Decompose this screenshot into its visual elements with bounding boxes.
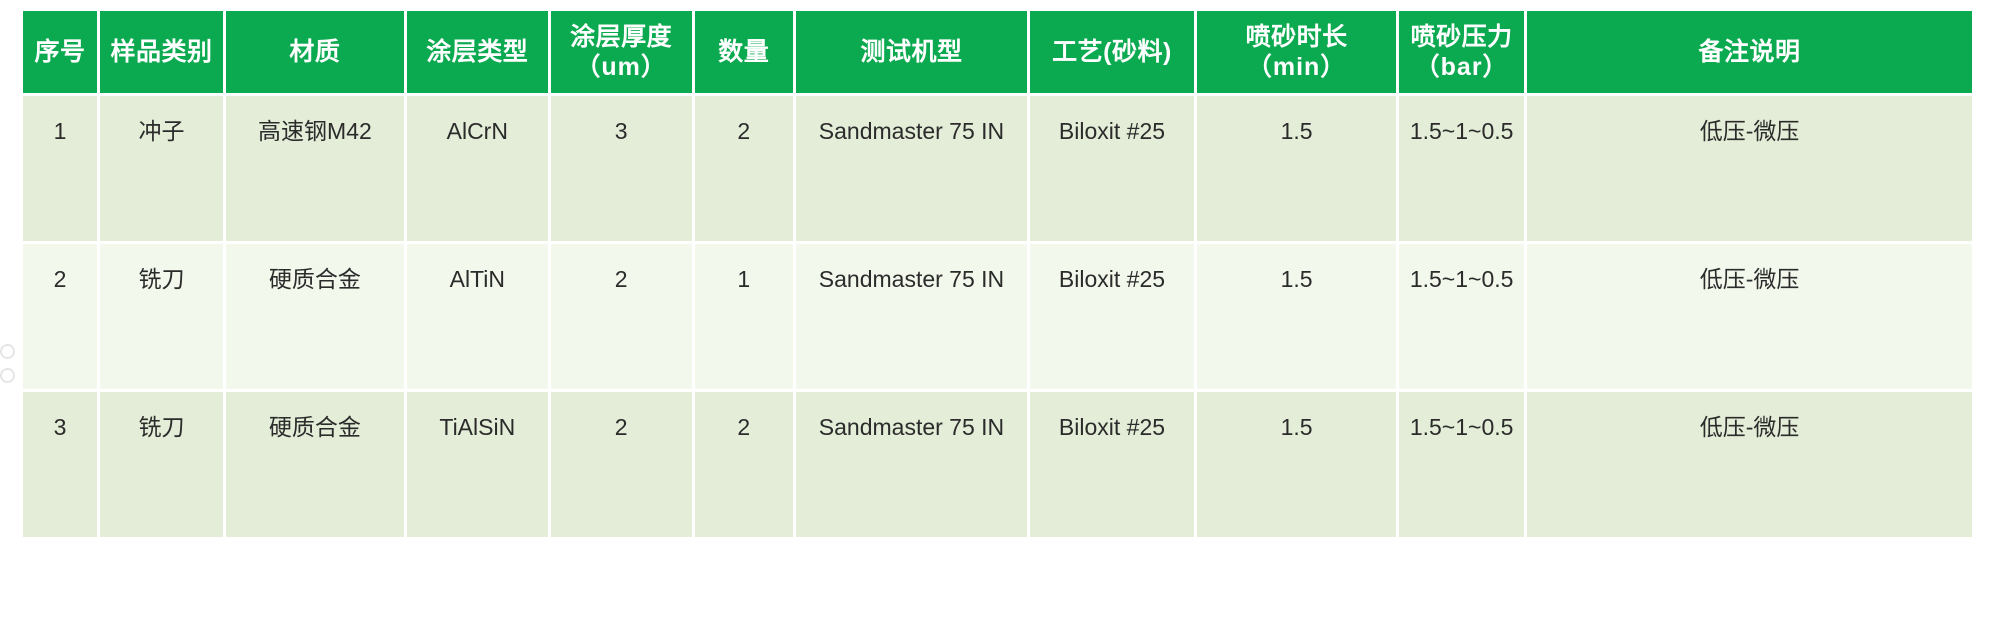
cell-remark[interactable]: 低压-微压 — [1527, 392, 1972, 537]
column-header-thickness-label: 涂层厚度 — [570, 23, 672, 51]
cell-category[interactable]: 冲子 — [100, 96, 223, 241]
cell-thickness[interactable]: 3 — [551, 96, 692, 241]
cell-category[interactable]: 铣刀 — [100, 244, 223, 389]
column-header-remark[interactable]: 备注说明 — [1527, 11, 1972, 93]
column-header-seq[interactable]: 序号 — [23, 11, 97, 93]
cell-coating[interactable]: AlTiN — [407, 244, 548, 389]
column-header-process[interactable]: 工艺(砂料) — [1030, 11, 1194, 93]
column-header-quantity[interactable]: 数量 — [695, 11, 793, 93]
cell-pressure[interactable]: 1.5~1~0.5 — [1399, 244, 1524, 389]
cell-seq[interactable]: 2 — [23, 244, 97, 389]
column-header-category-label: 样品类别 — [111, 38, 213, 66]
column-header-remark-label: 备注说明 — [1699, 38, 1801, 66]
cell-coating[interactable]: TiAlSiN — [407, 392, 548, 537]
column-header-pressure-label: 喷砂压力 — [1411, 23, 1513, 51]
cell-machine[interactable]: Sandmaster 75 IN — [796, 96, 1027, 241]
cropped-glyph-fragment — [0, 344, 15, 359]
column-header-pressure[interactable]: 喷砂压力 （bar） — [1399, 11, 1524, 93]
cell-quantity[interactable]: 1 — [695, 244, 793, 389]
cell-duration[interactable]: 1.5 — [1197, 96, 1396, 241]
column-header-pressure-unit: （bar） — [1401, 52, 1522, 83]
table-header: 序号 样品类别 材质 涂层类型 涂层厚度 （um） 数量 — [23, 11, 1972, 93]
column-header-quantity-label: 数量 — [718, 38, 769, 66]
cell-material[interactable]: 硬质合金 — [226, 392, 404, 537]
column-header-machine[interactable]: 测试机型 — [796, 11, 1027, 93]
cell-machine[interactable]: Sandmaster 75 IN — [796, 244, 1027, 389]
column-header-duration-label: 喷砂时长 — [1246, 23, 1348, 51]
table-row[interactable]: 1 冲子 高速钢M42 AlCrN 3 2 Sandmaster 75 IN B… — [23, 96, 1972, 241]
cell-material[interactable]: 硬质合金 — [226, 244, 404, 389]
cell-material[interactable]: 高速钢M42 — [226, 96, 404, 241]
cell-process[interactable]: Biloxit #25 — [1030, 96, 1194, 241]
column-header-material-label: 材质 — [289, 38, 340, 66]
cell-thickness[interactable]: 2 — [551, 392, 692, 537]
table-row[interactable]: 3 铣刀 硬质合金 TiAlSiN 2 2 Sandmaster 75 IN B… — [23, 392, 1972, 537]
cell-thickness[interactable]: 2 — [551, 244, 692, 389]
column-header-category[interactable]: 样品类别 — [100, 11, 223, 93]
cell-machine[interactable]: Sandmaster 75 IN — [796, 392, 1027, 537]
cell-pressure[interactable]: 1.5~1~0.5 — [1399, 96, 1524, 241]
cell-process[interactable]: Biloxit #25 — [1030, 244, 1194, 389]
column-header-machine-label: 测试机型 — [860, 38, 962, 66]
column-header-thickness-unit: （um） — [553, 52, 690, 83]
column-header-process-label: 工艺(砂料) — [1052, 38, 1172, 66]
column-header-coating[interactable]: 涂层类型 — [407, 11, 548, 93]
cell-quantity[interactable]: 2 — [695, 96, 793, 241]
cell-remark[interactable]: 低压-微压 — [1527, 96, 1972, 241]
column-header-seq-label: 序号 — [35, 38, 86, 66]
column-header-duration[interactable]: 喷砂时长 （min） — [1197, 11, 1396, 93]
cell-quantity[interactable]: 2 — [695, 392, 793, 537]
spreadsheet-canvas: 序号 样品类别 材质 涂层类型 涂层厚度 （um） 数量 — [0, 0, 2015, 637]
cell-process[interactable]: Biloxit #25 — [1030, 392, 1194, 537]
table-body: 1 冲子 高速钢M42 AlCrN 3 2 Sandmaster 75 IN B… — [23, 96, 1972, 537]
cell-pressure[interactable]: 1.5~1~0.5 — [1399, 392, 1524, 537]
sample-spec-table: 序号 样品类别 材质 涂层类型 涂层厚度 （um） 数量 — [20, 8, 1975, 540]
column-header-material[interactable]: 材质 — [226, 11, 404, 93]
table-row[interactable]: 2 铣刀 硬质合金 AlTiN 2 1 Sandmaster 75 IN Bil… — [23, 244, 1972, 389]
cell-seq[interactable]: 3 — [23, 392, 97, 537]
cell-seq[interactable]: 1 — [23, 96, 97, 241]
header-row: 序号 样品类别 材质 涂层类型 涂层厚度 （um） 数量 — [23, 11, 1972, 93]
cell-category[interactable]: 铣刀 — [100, 392, 223, 537]
cell-duration[interactable]: 1.5 — [1197, 244, 1396, 389]
cell-remark[interactable]: 低压-微压 — [1527, 244, 1972, 389]
cell-coating[interactable]: AlCrN — [407, 96, 548, 241]
cell-duration[interactable]: 1.5 — [1197, 392, 1396, 537]
cropped-glyph-fragment — [0, 368, 15, 383]
column-header-thickness[interactable]: 涂层厚度 （um） — [551, 11, 692, 93]
column-header-duration-unit: （min） — [1199, 52, 1394, 83]
column-header-coating-label: 涂层类型 — [426, 38, 528, 66]
